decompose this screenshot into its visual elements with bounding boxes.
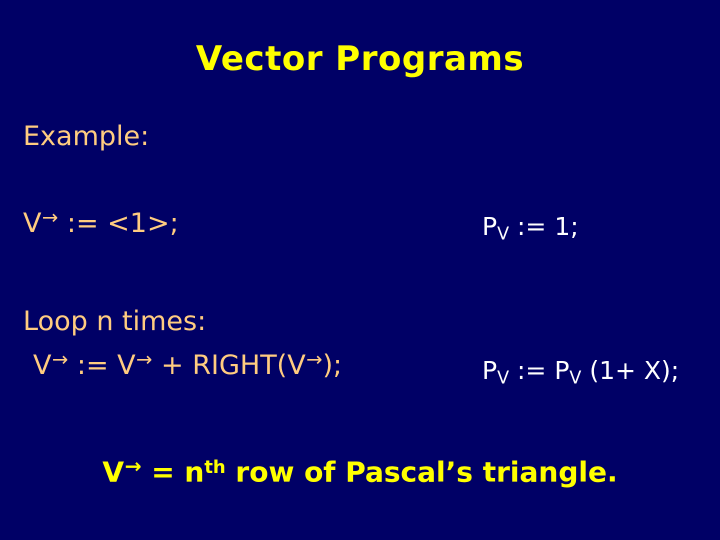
loop-statement: V→ := V→ + RIGHT(V→); [33,350,342,379]
slide-canvas: Vector Programs Example: V→ := <1>; Loop… [0,0,720,540]
loop-lhs-var: V [33,350,51,381]
loop-arg-var: V [287,350,305,381]
eq-loop-rest: (1+ X); [581,356,679,385]
eq-init-base: P [482,212,497,241]
vector-arrow-icon: → [306,348,322,371]
vector-arrow-icon: → [52,348,68,371]
vector-arrow-icon: → [136,348,152,371]
vector-arrow-icon: → [125,454,142,478]
eq-loop-base2: P [554,356,569,385]
init-statement: V→ := <1>; [23,208,179,237]
loop-operator: := [68,350,117,381]
conclusion-tail: row of Pascal’s triangle. [226,455,618,488]
eq-init-rest: := 1; [509,212,579,241]
vector-arrow-icon: → [42,206,58,229]
init-rhs: <1>; [107,208,179,239]
init-operator: := [58,208,107,239]
conclusion-equals: = n [141,455,204,488]
ordinal-suffix: th [204,457,225,478]
eq-loop-base: P [482,356,497,385]
slide-title: Vector Programs [0,42,720,76]
init-lhs-var: V [23,208,41,239]
loop-plus-right: + RIGHT( [152,350,287,381]
loop-rhs-var: V [117,350,135,381]
eq-loop-subscript: V [497,369,509,389]
conclusion-vector: V [102,455,124,488]
eq-loop-operator: := [509,356,554,385]
loop-close: ); [323,350,343,381]
equation-init: PV := 1; [482,214,579,244]
equation-loop: PV := PV (1+ X); [482,358,679,388]
eq-init-subscript: V [497,225,509,245]
example-label: Example: [23,123,149,150]
eq-loop-subscript2: V [569,369,581,389]
conclusion-line: V→ = nth row of Pascal’s triangle. [0,456,720,486]
loop-label: Loop n times: [23,308,206,335]
